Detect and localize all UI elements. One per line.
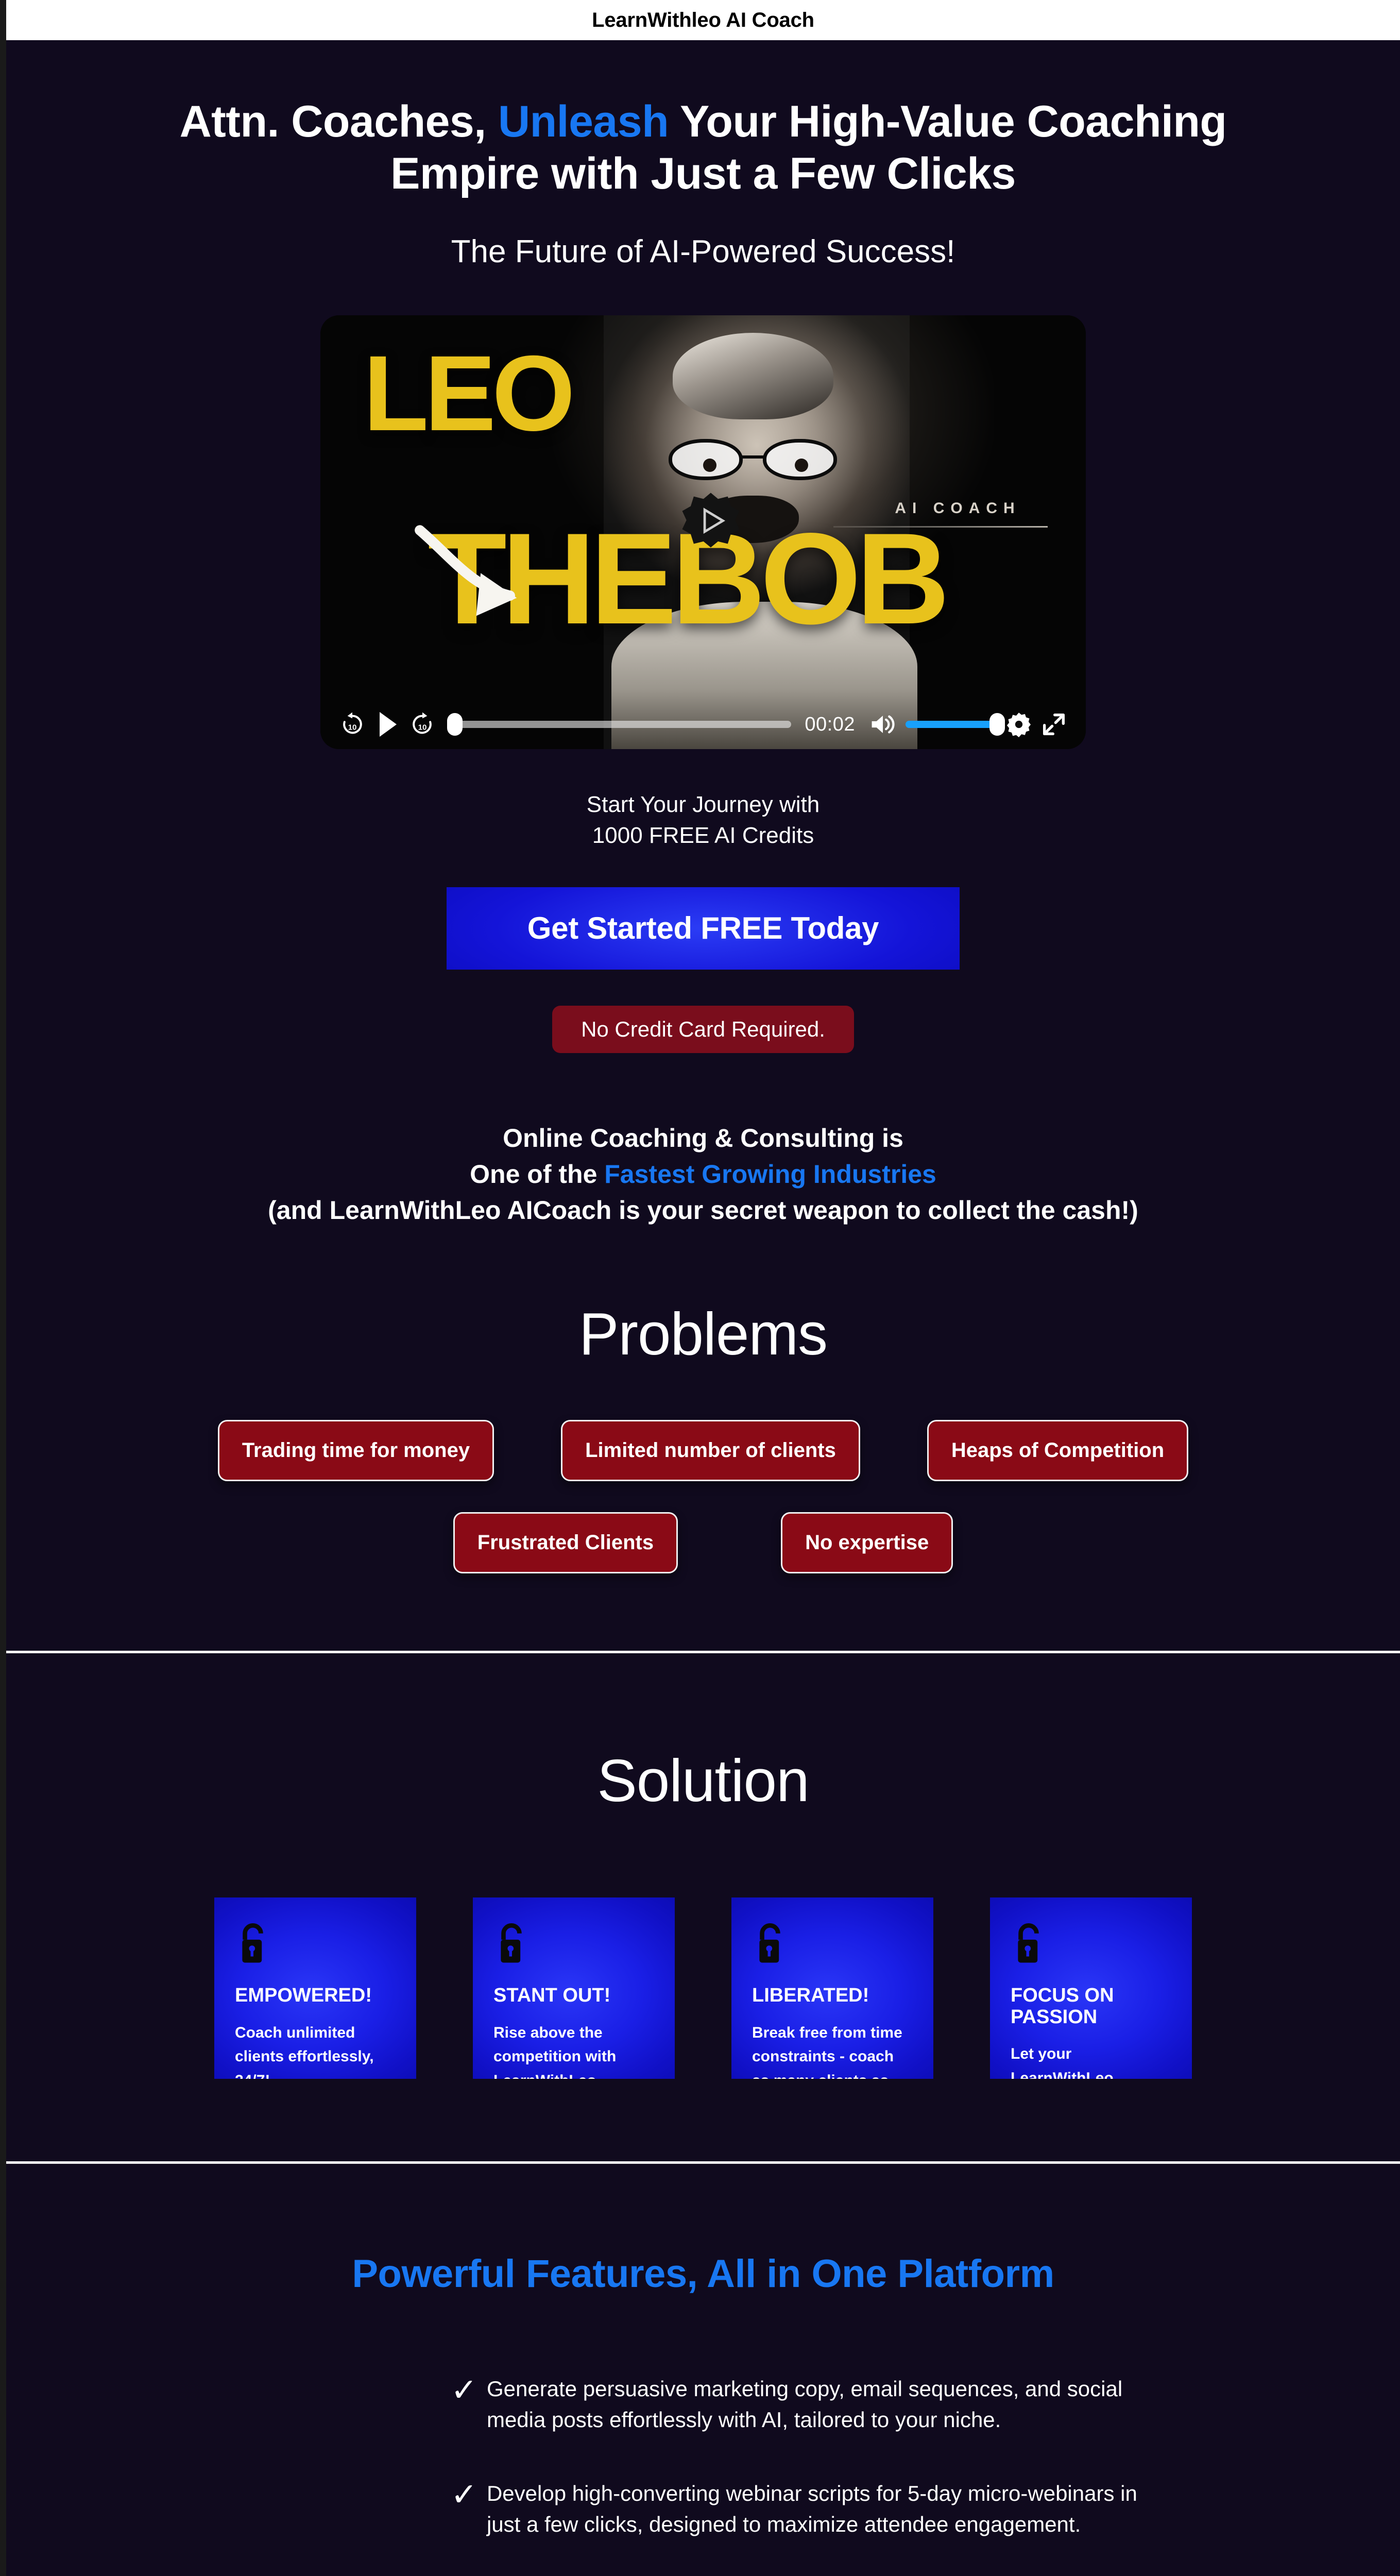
rewind-10-icon[interactable]: 10 [335,707,370,742]
svg-text:10: 10 [348,723,357,732]
video-progress-slider[interactable] [449,719,791,730]
unlock-icon [493,1920,530,1964]
solution-card-title: FOCUS ON PASSION [1011,1985,1171,2028]
growth-line-2: One of the Fastest Growing Industries [6,1156,1400,1192]
video-current-time: 00:02 [805,714,855,736]
window-titlebar: LearnWithleo AI Coach [6,0,1400,40]
solution-card: LIBERATED! Break free from time constrai… [731,1897,933,2079]
check-icon: ✓ [451,2375,477,2406]
video-controls-bar: 10 10 [320,700,1086,749]
solution-cards: EMPOWERED! Coach unlimited clients effor… [6,1897,1400,2079]
features-list: ✓ Generate persuasive marketing copy, em… [198,2374,1208,2576]
journey-text: Start Your Journey with 1000 FREE AI Cre… [6,789,1400,851]
thumbnail-tagline: AI COACH [895,500,1020,517]
get-started-button[interactable]: Get Started FREE Today [447,887,960,970]
volume-slider[interactable] [906,719,997,730]
problem-pill: Heaps of Competition [927,1420,1188,1481]
unlock-icon [752,1920,788,1964]
features-heading: Powerful Features, All in One Platform [6,2251,1400,2296]
glasses-icon [669,439,837,480]
feature-text: Develop high-converting webinar scripts … [487,2478,1167,2539]
video-player-wrapper: LEO THEBOB AI COACH [320,315,1086,749]
page-content: Attn. Coaches, Unleash Your High-Value C… [6,40,1400,2576]
fullscreen-icon[interactable] [1036,707,1071,742]
growth-line-1: Online Coaching & Consulting is [6,1120,1400,1156]
solution-card-body: Coach unlimited clients effortlessly, 24… [235,2021,396,2079]
problem-pill: Trading time for money [218,1420,494,1481]
hero-headline: Attn. Coaches, Unleash Your High-Value C… [142,96,1265,199]
page-root: LearnWithleo AI Coach Attn. Coaches, Unl… [0,0,1400,2576]
unlock-icon [235,1920,271,1964]
unlock-icon [1011,1920,1047,1964]
check-icon: ✓ [451,2479,477,2511]
no-credit-card-badge: No Credit Card Required. [552,1006,854,1053]
solution-card-body: Break free from time constraints - coach… [752,2021,913,2079]
feature-text: Generate persuasive marketing copy, emai… [487,2374,1167,2435]
curved-arrow-icon [404,523,535,636]
thumbnail-word-leo: LEO [363,348,571,440]
video-player[interactable]: LEO THEBOB AI COACH [320,315,1086,749]
problems-section: Problems Trading time for money Limited … [6,1259,1400,1651]
journey-line-2: 1000 FREE AI Credits [6,820,1400,851]
features-section: Powerful Features, All in One Platform ✓… [6,2164,1400,2576]
feature-item: ✓ Develop high-converting webinar script… [451,2478,1208,2539]
problem-pill: No expertise [781,1512,953,1573]
solution-card: FOCUS ON PASSION Let your LearnWithLeo A… [990,1897,1192,2079]
progress-track [449,721,791,728]
solution-card-title: EMPOWERED! [235,1985,396,2007]
solution-card: STANT OUT! Rise above the competition wi… [473,1897,675,2079]
cta-block: Start Your Journey with 1000 FREE AI Cre… [6,749,1400,1053]
solution-card-body: Rise above the competition with LearnWit… [493,2021,654,2079]
journey-line-1: Start Your Journey with [6,789,1400,820]
thumbnail-eye-left [703,459,716,472]
solution-card-title: STANT OUT! [493,1985,654,2007]
volume-high-icon[interactable] [865,707,900,742]
solution-card: EMPOWERED! Coach unlimited clients effor… [214,1897,416,2079]
growth-line-2-highlight: Fastest Growing Industries [604,1160,936,1189]
hero-section: Attn. Coaches, Unleash Your High-Value C… [6,40,1400,1651]
progress-knob[interactable] [447,713,463,736]
play-icon[interactable] [370,707,405,742]
problems-row-2: Frustrated Clients No expertise [6,1512,1400,1573]
volume-knob[interactable] [989,713,1005,736]
left-gutter [0,0,6,2576]
problems-row-1: Trading time for money Limited number of… [6,1420,1400,1481]
growth-line-3: (and LearnWithLeo AICoach is your secret… [6,1192,1400,1228]
volume-track [906,721,997,728]
hero-subheadline: The Future of AI-Powered Success! [6,233,1400,270]
thumbnail-hair [673,333,833,419]
feature-item: ✓ Generate persuasive marketing copy, em… [451,2374,1208,2435]
video-thumbnail: LEO THEBOB AI COACH [320,315,1086,749]
window-title: LearnWithleo AI Coach [592,9,814,32]
hero-headline-part1: Attn. Coaches, [180,97,498,146]
solution-card-body: Let your LearnWithLeo AICoach handle mun… [1011,2042,1171,2078]
solution-section: Solution EMPOWERED! Coach unlimited clie… [6,1653,1400,2161]
play-badge-icon[interactable] [676,491,745,552]
solution-card-title: LIBERATED! [752,1985,913,2007]
hero-headline-highlight: Unleash [498,97,669,146]
problem-pill: Frustrated Clients [453,1512,678,1573]
solution-heading: Solution [6,1746,1400,1815]
gear-icon[interactable] [1001,707,1036,742]
problem-pill: Limited number of clients [561,1420,860,1481]
thumbnail-tagline-rule [833,526,1048,528]
growth-statement: Online Coaching & Consulting is One of t… [6,1053,1400,1259]
problems-heading: Problems [6,1299,1400,1368]
forward-10-icon[interactable]: 10 [405,707,440,742]
svg-text:10: 10 [418,723,427,732]
growth-line-2-prefix: One of the [470,1160,604,1189]
